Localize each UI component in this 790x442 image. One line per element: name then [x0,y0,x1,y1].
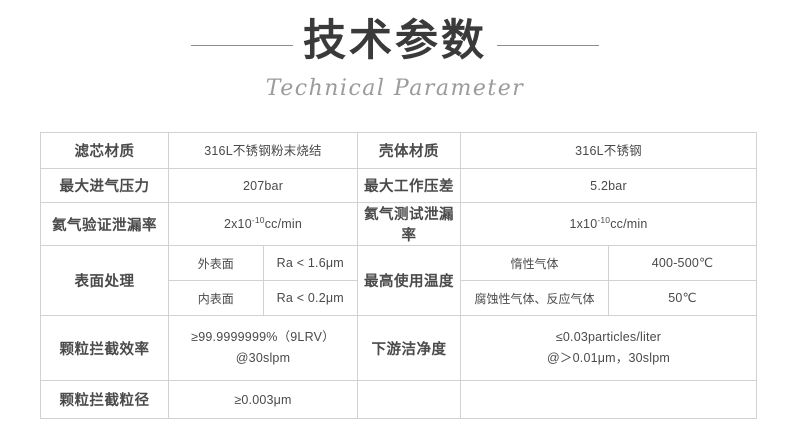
sub-label-corrosive-reactive-gas: 腐蚀性气体、反应气体 [461,281,609,316]
leak-rate-unit-right: cc/min [610,217,647,231]
title-row: 技术参数 [0,16,790,66]
row-value-helium-test-leak-rate: 1x10-10cc/min [461,203,757,246]
table-row: 氦气验证泄漏率 2x10-10cc/min 氦气测试泄漏率 1x10-10cc/… [41,203,757,246]
row-value-downstream-cleanliness: ≤0.03particles/liter @＞0.01μm，30slpm [461,316,757,381]
row-key-particle-retention-size: 颗粒拦截粒径 [41,381,169,419]
table-row: 颗粒拦截粒径 ≥0.003μm [41,381,757,419]
row-key-max-inlet-pressure: 最大进气压力 [41,169,169,203]
decor-line-right-icon [497,45,599,46]
sub-label-outer-surface: 外表面 [169,246,264,281]
sub-value-inert-gas-temp: 400-500℃ [609,246,757,281]
sub-label-inner-surface: 内表面 [169,281,264,316]
leak-rate-exponent-left: -10 [252,215,265,225]
row-value-particle-retention-efficiency: ≥99.9999999%（9LRV） @30slpm [169,316,358,381]
row-key-particle-retention-efficiency: 颗粒拦截效率 [41,316,169,381]
row-value-max-working-differential-pressure: 5.2bar [461,169,757,203]
row-value-max-inlet-pressure: 207bar [169,169,358,203]
table-row: 表面处理 外表面 Ra < 1.6μm 最高使用温度 惰性气体 400-500℃ [41,246,757,281]
sub-label-inert-gas: 惰性气体 [461,246,609,281]
row-key-empty [358,381,461,419]
row-key-housing-material: 壳体材质 [358,133,461,169]
leak-rate-unit-left: cc/min [265,217,302,231]
row-key-downstream-cleanliness: 下游洁净度 [358,316,461,381]
table-row: 最大进气压力 207bar 最大工作压差 5.2bar [41,169,757,203]
row-key-helium-verification-leak-rate: 氦气验证泄漏率 [41,203,169,246]
page-title: 技术参数 [303,16,487,66]
cleanliness-line-1: ≤0.03particles/liter [461,327,756,348]
leak-rate-exponent-right: -10 [597,215,610,225]
row-key-surface-treatment: 表面处理 [41,246,169,316]
row-value-helium-verification-leak-rate: 2x10-10cc/min [169,203,358,246]
sub-value-outer-surface: Ra < 1.6μm [263,246,358,281]
row-value-particle-retention-size: ≥0.003μm [169,381,358,419]
efficiency-line-2: @30slpm [169,348,357,369]
technical-parameter-table: 滤芯材质 316L不锈钢粉末烧结 壳体材质 316L不锈钢 最大进气压力 207… [40,132,757,419]
row-key-max-operating-temperature: 最高使用温度 [358,246,461,316]
row-value-empty [461,381,757,419]
leak-rate-base-right: 1x10 [569,217,597,231]
row-value-housing-material: 316L不锈钢 [461,133,757,169]
sub-value-inner-surface: Ra < 0.2μm [263,281,358,316]
row-value-filter-material: 316L不锈钢粉末烧结 [169,133,358,169]
row-key-max-working-differential-pressure: 最大工作压差 [358,169,461,203]
sub-value-corrosive-reactive-gas-temp: 50℃ [609,281,757,316]
decor-line-left-icon [191,45,293,46]
row-key-filter-material: 滤芯材质 [41,133,169,169]
efficiency-line-1: ≥99.9999999%（9LRV） [169,327,357,348]
table-row: 滤芯材质 316L不锈钢粉末烧结 壳体材质 316L不锈钢 [41,133,757,169]
page-header: 技术参数 Technical Parameter [0,0,790,120]
cleanliness-line-2: @＞0.01μm，30slpm [461,348,756,369]
table-row: 颗粒拦截效率 ≥99.9999999%（9LRV） @30slpm 下游洁净度 … [41,316,757,381]
leak-rate-base-left: 2x10 [224,217,252,231]
page-subtitle: Technical Parameter [0,76,790,101]
row-key-helium-test-leak-rate: 氦气测试泄漏率 [358,203,461,246]
